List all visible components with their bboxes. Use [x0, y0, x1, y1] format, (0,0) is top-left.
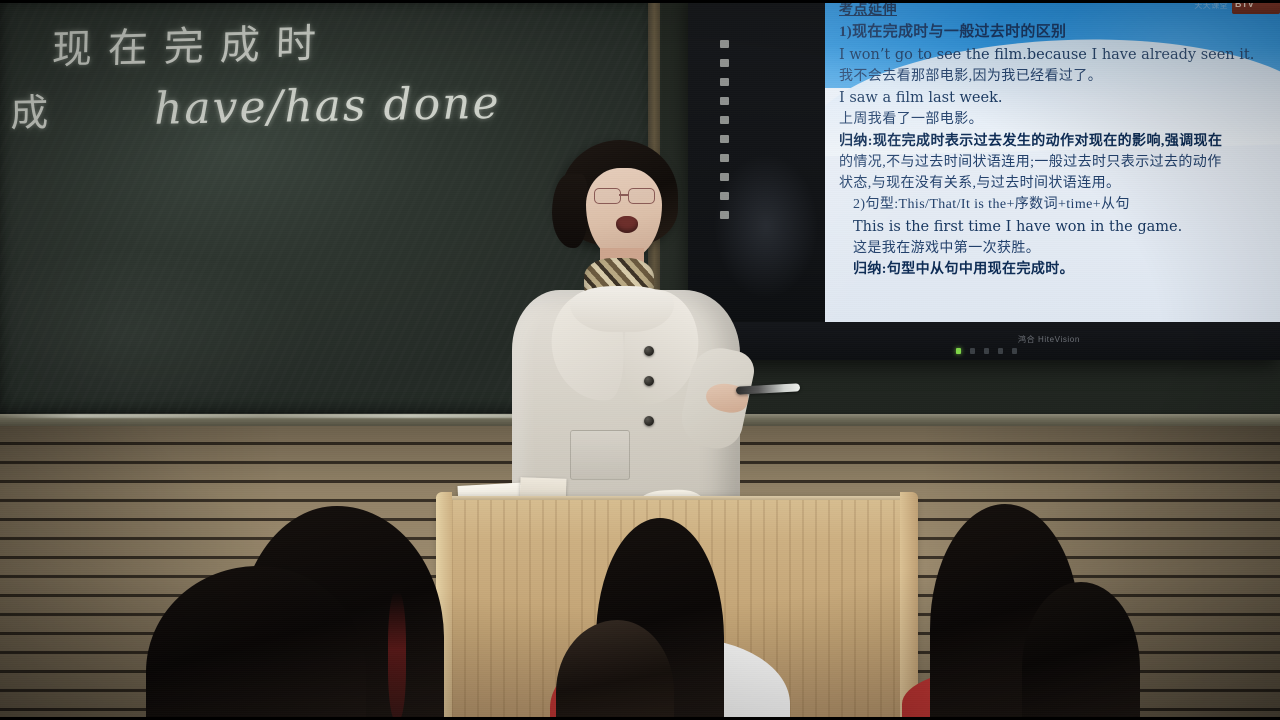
- slide-line-6: 归纳:现在完成时表示过去发生的动作对现在的影响,强调现在: [839, 131, 1274, 152]
- slide-line-8: 状态,与现在没有关系,与过去时间状语连用。: [839, 173, 1274, 194]
- slide-line-5: 上周我看了一部电影。: [839, 109, 1274, 130]
- glasses-lens-right-icon: [628, 188, 655, 204]
- panel-button-1[interactable]: [720, 40, 729, 48]
- slide-line-9: 2)句型:This/That/It is the+序数词+time+从句: [839, 194, 1274, 215]
- slide-content: 考点延伸 1)现在完成时与一般过去时的区别 I won’t go to see …: [825, 0, 1280, 322]
- slide-line-7: 的情况,不与过去时间状语连用;一般过去时只表示过去的动作: [839, 152, 1274, 173]
- panel-button-3[interactable]: [720, 78, 729, 86]
- lesson-slide: 考点延伸 1)现在完成时与一般过去时的区别 I won’t go to see …: [825, 0, 1280, 322]
- teacher-figure: [508, 140, 768, 520]
- student-hair: [1022, 582, 1140, 720]
- student-hair-streak: [388, 592, 406, 720]
- slide-line-11: 这是我在游戏中第一次获胜。: [839, 238, 1274, 259]
- jacket-button-3: [644, 416, 654, 426]
- teacher-mouth: [616, 216, 638, 233]
- blackboard-chalk-line-1: 现在完成时: [51, 11, 333, 76]
- status-led-4-icon: [1012, 348, 1017, 354]
- slide-line-10: This is the first time I have won in the…: [839, 216, 1274, 238]
- jacket-button-2: [644, 376, 654, 386]
- status-led-2-icon: [984, 348, 989, 354]
- slide-line-12: 归纳:句型中从句中用现在完成时。: [839, 259, 1274, 280]
- panel-button-2[interactable]: [720, 59, 729, 67]
- student-hair: [556, 620, 674, 720]
- teacher-face: [586, 168, 662, 260]
- letterbox-top: [0, 0, 1280, 3]
- teacher-hair-side: [552, 174, 588, 248]
- teacher-glasses: [592, 188, 660, 203]
- jacket-pocket: [570, 430, 630, 480]
- slide-line-4: I saw a film last week.: [839, 87, 1274, 109]
- slide-line-1: 1)现在完成时与一般过去时的区别: [839, 21, 1274, 44]
- glasses-lens-left-icon: [594, 188, 621, 204]
- slide-line-2: I won’t go to see the film.because I hav…: [839, 44, 1274, 66]
- panel-brand-label: 鸿合 HiteVision: [1018, 334, 1080, 345]
- student-hair: [146, 566, 366, 720]
- jacket-button-1: [644, 346, 654, 356]
- teacher-collar: [570, 286, 674, 332]
- status-led-1-icon: [970, 348, 975, 354]
- student-far-right: [1022, 582, 1140, 720]
- classroom-video-frame: 现在完成时 成have/has done 考点延伸 1)现在完成时与一: [0, 0, 1280, 720]
- blackboard-chalk-latin: have/has done: [154, 78, 501, 135]
- blackboard-chalk-line-2: 成have/has done: [10, 74, 501, 138]
- glasses-bridge-icon: [619, 194, 628, 196]
- panel-button-4[interactable]: [720, 97, 729, 105]
- blackboard-chalk-cjk: 成: [10, 93, 55, 136]
- student-left-front: [146, 566, 366, 720]
- status-led-3-icon: [998, 348, 1003, 354]
- interactive-flat-panel[interactable]: 考点延伸 1)现在完成时与一般过去时的区别 I won’t go to see …: [688, 0, 1280, 360]
- panel-button-5[interactable]: [720, 116, 729, 124]
- student-center-low: [556, 620, 674, 720]
- panel-bottom-bezel: 鸿合 HiteVision: [688, 322, 1280, 360]
- panel-status-leds: [956, 348, 1017, 354]
- slide-line-3: 我不会去看那部电影,因为我已经看过了。: [839, 66, 1274, 87]
- power-led-icon: [956, 348, 961, 354]
